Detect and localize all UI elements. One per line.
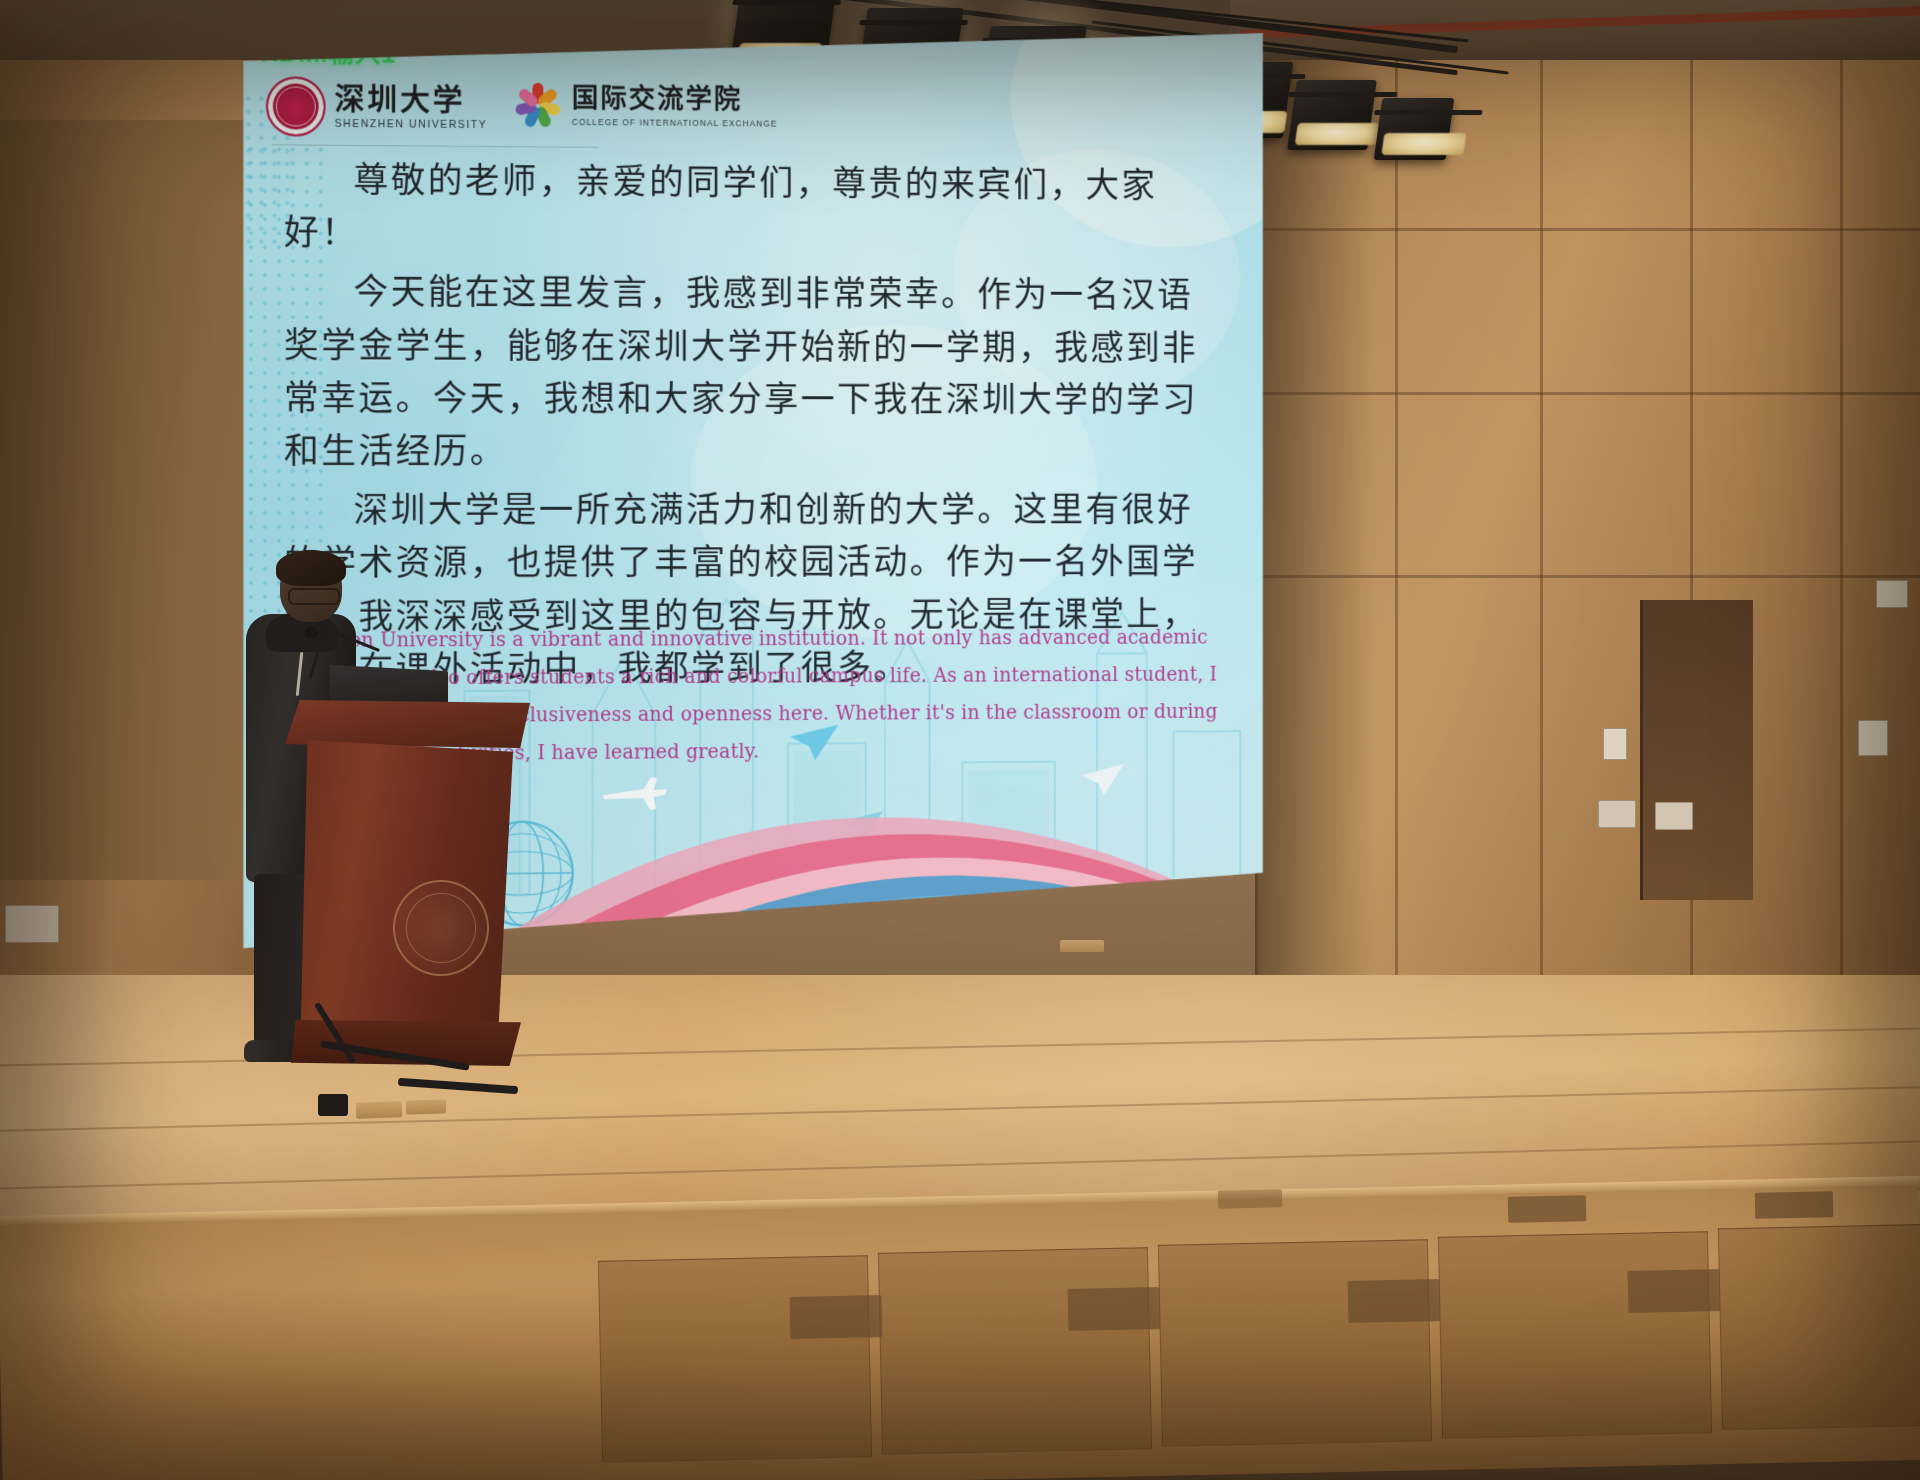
stage-front-vent — [1508, 1195, 1587, 1223]
wall-hook — [1876, 580, 1908, 608]
paragraph-cn: 尊敬的老师，亲爱的同学们，尊贵的来宾们，大家好！ — [284, 154, 1227, 265]
side-doorway[interactable] — [1640, 600, 1753, 900]
stage-front-panel — [598, 1255, 872, 1463]
wall-seam-horizontal — [1255, 392, 1920, 395]
stage-front-vent — [790, 1295, 883, 1339]
wall-outlet[interactable] — [1598, 800, 1636, 828]
stage-spotlight[interactable] — [1287, 80, 1377, 150]
wall-seam-horizontal — [1255, 228, 1920, 231]
stage-front-vent — [1068, 1287, 1161, 1331]
stage-front-panel — [1158, 1239, 1432, 1447]
lamp-yoke — [732, 0, 841, 5]
speaker-hair — [276, 550, 346, 586]
slide-header-logos: 深圳大学 SHENZHEN UNIVERSITY — [266, 76, 778, 140]
wall-seam-horizontal — [1258, 575, 1920, 578]
wall-outlet[interactable] — [5, 905, 59, 943]
stage-floor-inlay — [1218, 1189, 1282, 1208]
university-seal-icon — [266, 76, 326, 136]
wall-plate — [1858, 720, 1888, 756]
auditorium-photo: HDMI输入1 深圳大学 SHENZHEN UNIVERSITY — [0, 0, 1920, 1480]
stage-front-vent — [1628, 1269, 1721, 1313]
wall-switch[interactable] — [1603, 728, 1627, 760]
floor-wedge — [356, 1101, 403, 1119]
stage-front-panel — [1718, 1224, 1920, 1431]
floor-marking — [1060, 940, 1104, 952]
college-wordmark: 国际交流学院 COLLEGE OF INTERNATIONAL EXCHANGE — [572, 86, 778, 129]
stage-front-panel — [1438, 1231, 1712, 1439]
university-wordmark: 深圳大学 SHENZHEN UNIVERSITY — [335, 85, 488, 131]
wall-seam — [1395, 60, 1398, 1070]
wall-seam — [1840, 60, 1843, 1055]
podium-top-surface — [285, 700, 530, 748]
floor-wedge — [406, 1099, 446, 1114]
wall-seam — [1540, 60, 1543, 1065]
wall-seam — [1690, 60, 1693, 1060]
podium-front-face — [301, 740, 513, 1035]
shenzhen-university-logo: 深圳大学 SHENZHEN UNIVERSITY — [266, 76, 487, 138]
lamp-lens — [1295, 123, 1380, 145]
microphone-head-icon — [305, 626, 318, 639]
paragraph-cn: 今天能在这里发言，我感到非常荣幸。作为一名汉语奖学金学生，能够在深圳大学开始新的… — [284, 267, 1227, 480]
lamp-lens — [1381, 133, 1466, 155]
left-wall-fabric-panel — [0, 120, 250, 880]
college-name-cn: 国际交流学院 — [572, 86, 778, 116]
wall-outlet[interactable] — [1655, 802, 1693, 830]
college-name-en: COLLEGE OF INTERNATIONAL EXCHANGE — [572, 118, 778, 129]
university-name-cn: 深圳大学 — [335, 85, 488, 116]
lamp-yoke — [1289, 92, 1398, 97]
stage-spotlight[interactable] — [1374, 98, 1455, 160]
stage-front-panel — [878, 1247, 1152, 1455]
podium-university-emblem — [393, 880, 489, 976]
eyeglasses — [288, 588, 340, 605]
university-name-en: SHENZHEN UNIVERSITY — [335, 119, 488, 131]
college-pinwheel-icon — [513, 81, 562, 131]
lamp-yoke — [1374, 110, 1483, 115]
cable-connector — [318, 1094, 348, 1116]
stage-front-vent — [1348, 1279, 1441, 1323]
lamp-yoke — [859, 20, 968, 25]
stage-front-vent — [1755, 1191, 1834, 1219]
right-wall-shadow — [1255, 60, 1375, 1070]
